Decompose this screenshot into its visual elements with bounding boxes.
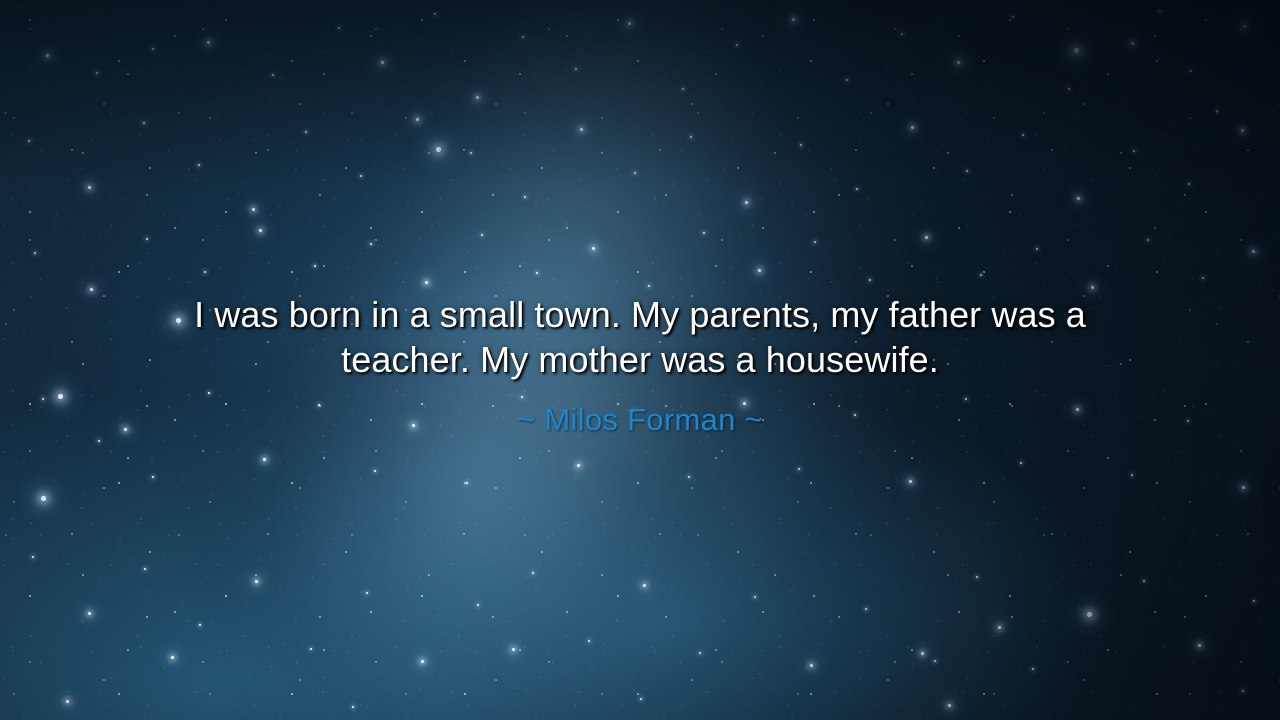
quote-content: I was born in a small town. My parents, … xyxy=(0,0,1280,720)
quote-author: ~ Milos Forman ~ xyxy=(517,402,763,438)
quote-card: I was born in a small town. My parents, … xyxy=(0,0,1280,720)
quote-text: I was born in a small town. My parents, … xyxy=(135,292,1145,382)
